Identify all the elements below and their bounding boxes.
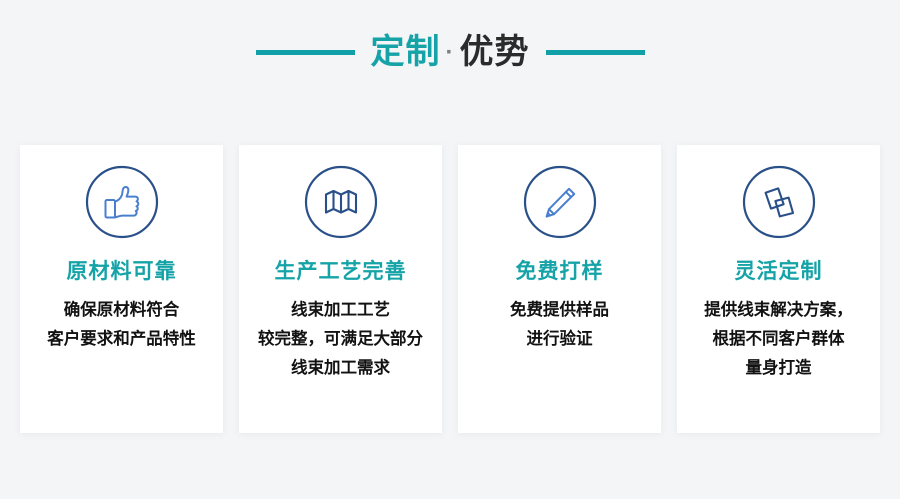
advantage-card-title: 生产工艺完善 [275, 261, 407, 282]
page-title-accent: 定制 [371, 35, 441, 69]
section-title: 定制 · 优势 [0, 26, 900, 78]
advantage-card-free-sample[interactable]: 免费打样 免费提供样品 进行验证 [458, 145, 661, 433]
description-line: 客户要求和产品特性 [26, 325, 217, 354]
description-line: 量身打造 [683, 354, 874, 383]
advantage-card-description: 线束加工工艺 较完整，可满足大部分 线束加工需求 [239, 296, 442, 383]
advantage-cards-row: 原材料可靠 确保原材料符合 客户要求和产品特性 生产工艺完善 线束加工工艺 较完… [20, 145, 880, 433]
description-line: 确保原材料符合 [26, 296, 217, 325]
advantage-card-flexible-customization[interactable]: 灵活定制 提供线束解决方案， 根据不同客户群体 量身打造 [677, 145, 880, 433]
page-title: 定制 · 优势 [371, 35, 530, 69]
advantage-card-title: 免费打样 [516, 261, 604, 282]
title-rule-left [256, 50, 355, 55]
page-title-main: 优势 [460, 35, 530, 69]
folded-map-icon [302, 163, 380, 241]
advantage-card-raw-material[interactable]: 原材料可靠 确保原材料符合 客户要求和产品特性 [20, 145, 223, 433]
advantage-card-description: 确保原材料符合 客户要求和产品特性 [20, 296, 223, 354]
advantage-card-title: 原材料可靠 [67, 261, 177, 282]
title-rule-right [546, 50, 645, 55]
advantage-card-title: 灵活定制 [735, 261, 823, 282]
stacked-cards-icon [740, 163, 818, 241]
advantage-card-process[interactable]: 生产工艺完善 线束加工工艺 较完整，可满足大部分 线束加工需求 [239, 145, 442, 433]
description-line: 免费提供样品 [464, 296, 655, 325]
page-title-separator: · [441, 41, 460, 65]
pencil-icon [521, 163, 599, 241]
description-line: 根据不同客户群体 [683, 325, 874, 354]
advantage-card-description: 提供线束解决方案， 根据不同客户群体 量身打造 [677, 296, 880, 383]
description-line: 较完整，可满足大部分 [245, 325, 436, 354]
advantage-card-description: 免费提供样品 进行验证 [458, 296, 661, 354]
description-line: 线束加工工艺 [245, 296, 436, 325]
description-line: 线束加工需求 [245, 354, 436, 383]
thumbs-up-icon [83, 163, 161, 241]
description-line: 提供线束解决方案， [683, 296, 874, 325]
description-line: 进行验证 [464, 325, 655, 354]
